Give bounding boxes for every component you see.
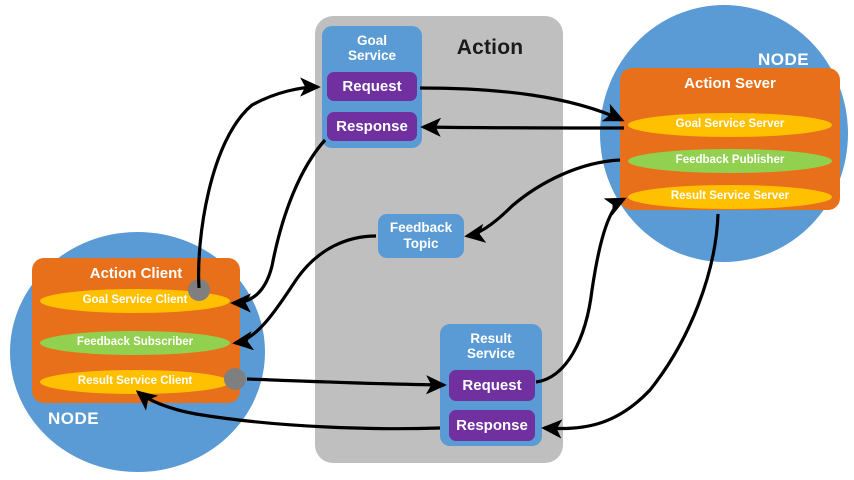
goal-request-box[interactable]: Request [327,72,417,101]
goal-service-title-line1: Goal [357,33,387,48]
node-label-server: NODE [758,50,809,70]
result-service-title: Result Service [440,331,542,361]
node-label-client: NODE [48,409,99,429]
result-service-title-line1: Result [470,331,511,346]
result-response-box[interactable]: Response [449,410,535,441]
goal-service-title-line2: Service [348,48,396,63]
feedback-topic-box[interactable]: Feedback Topic [378,214,464,258]
diagram-canvas: Action [0,0,854,480]
feedback-topic-line1: Feedback [390,220,452,236]
goal-response-box[interactable]: Response [327,112,417,141]
action-container-label: Action [430,36,550,60]
pill-result-service-client[interactable]: Result Service Client [40,370,230,394]
result-request-box[interactable]: Request [449,370,535,401]
pill-goal-service-server[interactable]: Goal Service Server [628,113,832,137]
action-server-title: Action Sever [620,75,840,92]
feedback-topic-line2: Topic [404,236,439,252]
junction-dot-result-client [224,368,246,390]
action-client-title: Action Client [32,265,240,282]
pill-result-service-server[interactable]: Result Service Server [628,185,832,209]
result-service-title-line2: Service [467,346,515,361]
junction-dot-goal-client [188,279,210,301]
pill-feedback-subscriber[interactable]: Feedback Subscriber [40,331,230,355]
goal-service-title: Goal Service [322,33,422,63]
pill-feedback-publisher[interactable]: Feedback Publisher [628,149,832,173]
